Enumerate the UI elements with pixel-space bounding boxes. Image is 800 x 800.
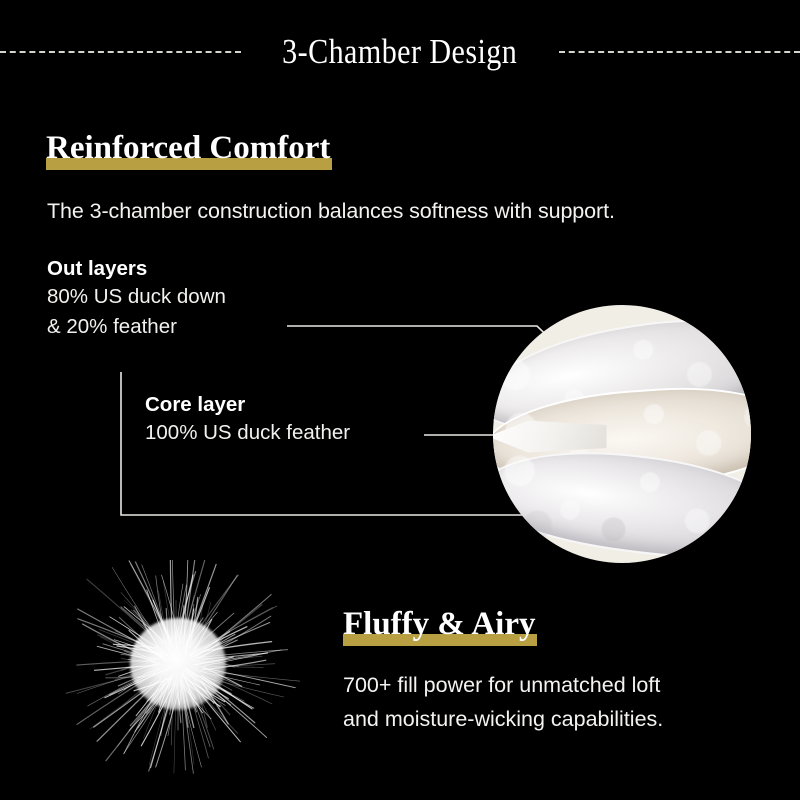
header-band: 3-Chamber Design <box>0 28 800 74</box>
section-one-subtitle: The 3-chamber construction balances soft… <box>47 197 615 225</box>
section-one-heading-text: Reinforced Comfort <box>46 128 330 168</box>
section-two-body-line-1: 700+ fill power for unmatched loft <box>343 668 663 702</box>
callout-outer-layers: Out layers 80% US duck down & 20% feathe… <box>47 255 226 342</box>
callout-outer-line-2: & 20% feather <box>47 312 226 342</box>
pillow-cross-section-image <box>493 305 751 563</box>
callout-core-layer: Core layer 100% US duck feather <box>145 391 350 448</box>
header-dashed-rule-left <box>0 51 241 53</box>
section-two-body: 700+ fill power for unmatched loft and m… <box>343 668 663 736</box>
promo-graphic-page: 3-Chamber Design Reinforced Comfort The … <box>0 0 800 800</box>
down-cluster-image <box>60 560 300 775</box>
header-dashed-rule-right <box>559 51 800 53</box>
callout-outer-line-1: 80% US duck down <box>47 282 226 312</box>
callout-outer-title: Out layers <box>47 255 226 282</box>
section-two-heading-text: Fluffy & Airy <box>343 604 535 644</box>
callout-core-line-1: 100% US duck feather <box>145 418 350 448</box>
section-two-body-line-2: and moisture-wicking capabilities. <box>343 702 663 736</box>
page-title: 3-Chamber Design <box>264 34 537 69</box>
section-one-heading: Reinforced Comfort <box>46 128 330 172</box>
down-cluster-filaments <box>60 560 300 775</box>
callout-core-title: Core layer <box>145 391 350 418</box>
section-two-heading: Fluffy & Airy <box>343 604 535 648</box>
